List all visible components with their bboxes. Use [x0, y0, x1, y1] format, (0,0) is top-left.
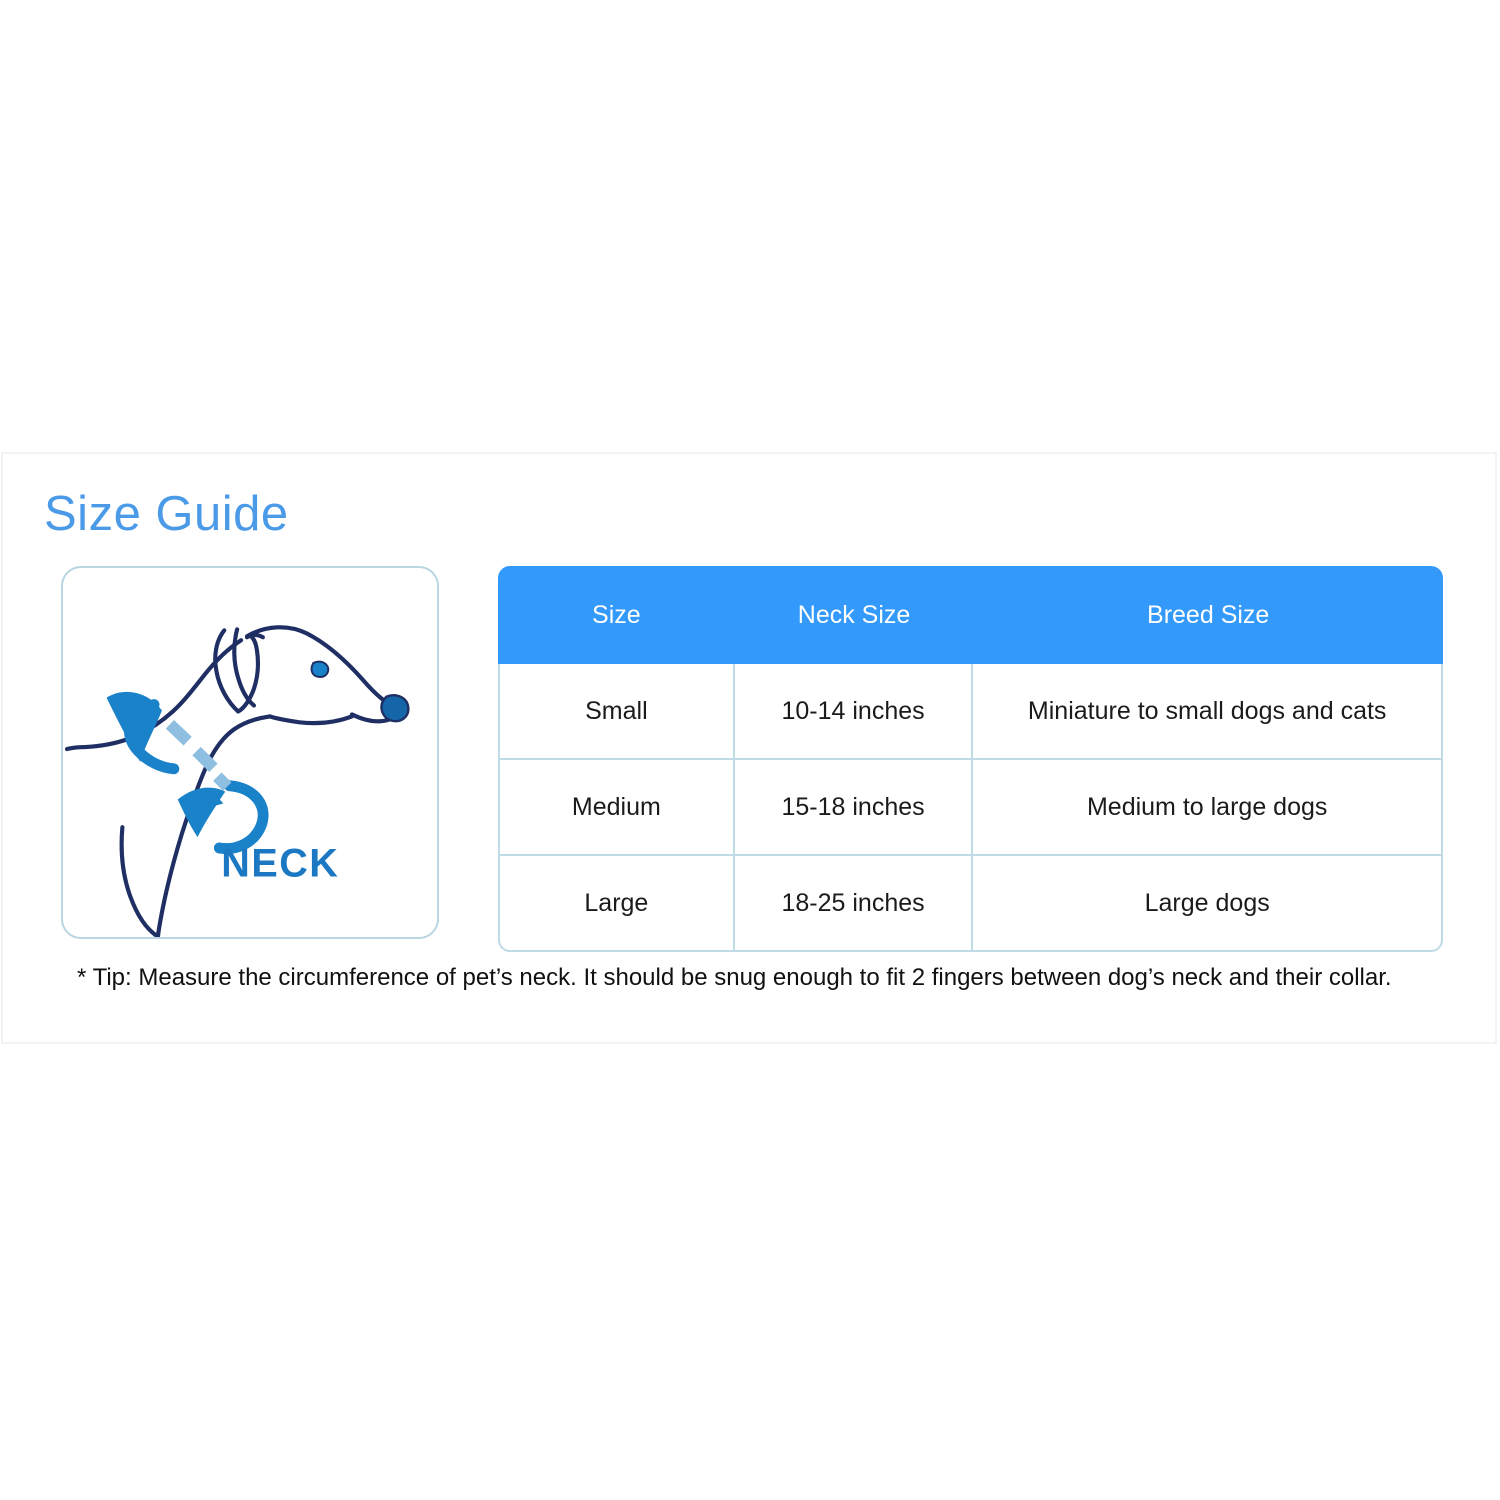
neck-measure-arrow-lower: [178, 786, 263, 849]
cell-neck-size: 10-14 inches: [735, 664, 974, 760]
cell-breed-size: Large dogs: [973, 856, 1443, 952]
neck-measure-dashed-line: [170, 724, 227, 786]
table-row: Medium 15-18 inches Medium to large dogs: [498, 760, 1443, 856]
size-table: Size Neck Size Breed Size Small 10-14 in…: [498, 566, 1443, 952]
column-header-breed-size: Breed Size: [973, 566, 1443, 664]
column-header-size: Size: [498, 566, 735, 664]
measurement-tip-text: * Tip: Measure the circumference of pet’…: [77, 964, 1457, 992]
page-title: Size Guide: [44, 486, 289, 542]
dog-eye-icon: [312, 662, 329, 677]
dog-neck-measurement-illustration: NECK: [61, 566, 439, 939]
cell-neck-size: 15-18 inches: [735, 760, 974, 856]
table-header-row: Size Neck Size Breed Size: [498, 566, 1443, 664]
cell-neck-size: 18-25 inches: [735, 856, 974, 952]
table-row: Large 18-25 inches Large dogs: [498, 856, 1443, 952]
neck-label: NECK: [221, 842, 339, 886]
table-row: Small 10-14 inches Miniature to small do…: [498, 664, 1443, 760]
cell-breed-size: Miniature to small dogs and cats: [973, 664, 1443, 760]
column-header-neck-size: Neck Size: [735, 566, 974, 664]
size-table-container: Size Neck Size Breed Size Small 10-14 in…: [498, 566, 1443, 939]
cell-size: Small: [498, 664, 735, 760]
dog-nose-icon: [382, 695, 409, 721]
size-table-header: Size Neck Size Breed Size: [498, 566, 1443, 664]
cell-breed-size: Medium to large dogs: [973, 760, 1443, 856]
cell-size: Medium: [498, 760, 735, 856]
neck-measure-arrow-upper: [107, 692, 174, 769]
size-guide-card: Size Guide: [1, 452, 1497, 1044]
cell-size: Large: [498, 856, 735, 952]
size-table-body: Small 10-14 inches Miniature to small do…: [498, 664, 1443, 952]
dog-illustration-svg: NECK: [63, 568, 437, 937]
